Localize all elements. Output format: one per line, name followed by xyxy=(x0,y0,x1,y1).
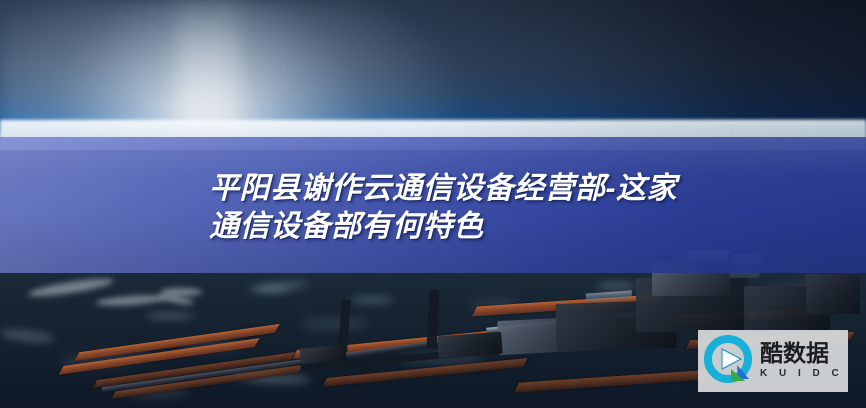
iss-module xyxy=(437,332,502,358)
iss-solar-panel xyxy=(514,369,716,392)
brand-watermark: 酷数据 K U I D C xyxy=(698,330,848,392)
brand-name-en: K U I D C xyxy=(760,367,843,380)
title-line-1: 平阳县谢作云通信设备经营部-这家 xyxy=(209,170,679,208)
title-line-2: 通信设备部有何特色 xyxy=(209,208,679,246)
iss-module xyxy=(806,274,860,314)
cover-image-canvas: 平阳县谢作云通信设备经营部-这家 通信设备部有何特色 酷数据 K U I D C xyxy=(0,0,866,408)
cover-title: 平阳县谢作云通信设备经营部-这家 通信设备部有何特色 xyxy=(209,170,679,246)
play-circle-icon xyxy=(704,335,756,387)
brand-text: 酷数据 K U I D C xyxy=(760,342,843,380)
brand-name-cn: 酷数据 xyxy=(760,342,843,366)
